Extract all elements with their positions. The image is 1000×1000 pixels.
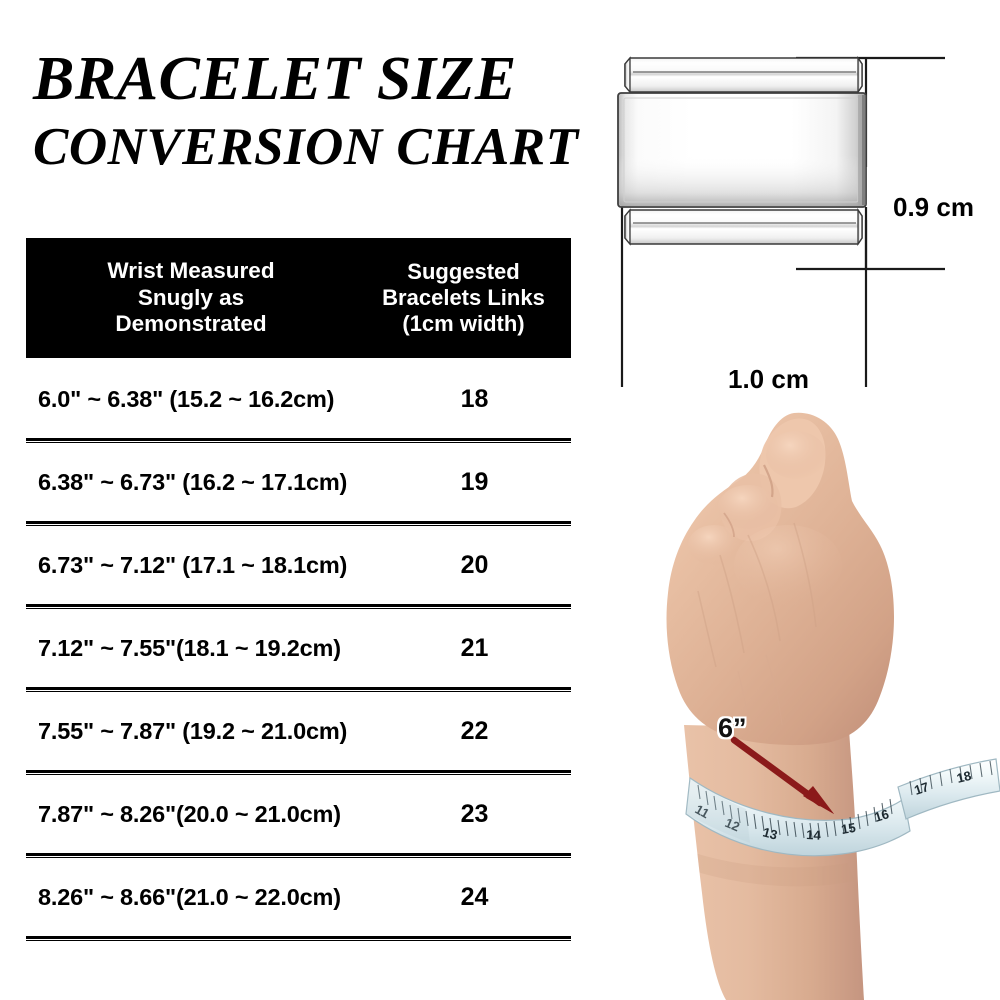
tape-number: 15 <box>840 820 857 837</box>
wrist-measurement-label: 6” <box>718 713 747 744</box>
cell-link-count: 20 <box>378 551 571 580</box>
row-divider <box>26 936 571 939</box>
title-line-2: CONVERSION CHART <box>33 118 593 176</box>
cell-link-count: 23 <box>378 800 571 829</box>
header-links-line-2: Bracelets Links <box>356 285 571 311</box>
link-bottom-rail <box>625 210 862 244</box>
cell-link-count: 21 <box>378 634 571 663</box>
cell-link-count: 18 <box>378 385 571 414</box>
header-links-line-1: Suggested <box>356 259 571 285</box>
hand-fist-icon: 11 12 13 14 15 16 17 18 <box>598 395 1000 1000</box>
header-links-line-3: (1cm width) <box>356 311 571 337</box>
link-height-label: 0.9 cm <box>893 192 974 223</box>
table-header-wrist: Wrist Measured Snugly as Demonstrated <box>26 258 356 338</box>
title-line-1: BRACELET SIZE <box>33 46 593 112</box>
cell-link-count: 22 <box>378 717 571 746</box>
cell-link-count: 24 <box>378 883 571 912</box>
table-row: 7.55" ~ 7.87" (19.2 ~ 21.0cm) 22 <box>26 690 571 773</box>
bracelet-link-figure: 0.9 cm 1.0 cm <box>600 42 1000 392</box>
link-width-label: 1.0 cm <box>728 364 809 395</box>
cell-wrist-range: 6.0" ~ 6.38" (15.2 ~ 16.2cm) <box>26 386 378 413</box>
cell-link-count: 19 <box>378 468 571 497</box>
cell-wrist-range: 6.73" ~ 7.12" (17.1 ~ 18.1cm) <box>26 552 378 579</box>
table-row: 7.12" ~ 7.55"(18.1 ~ 19.2cm) 21 <box>26 607 571 690</box>
link-face <box>618 93 866 207</box>
cell-wrist-range: 8.26" ~ 8.66"(21.0 ~ 22.0cm) <box>26 884 378 911</box>
header-wrist-line-3: Demonstrated <box>26 311 356 338</box>
table-header-row: Wrist Measured Snugly as Demonstrated Su… <box>26 238 571 358</box>
table-row: 6.73" ~ 7.12" (17.1 ~ 18.1cm) 20 <box>26 524 571 607</box>
link-top-rail <box>625 58 862 92</box>
cell-wrist-range: 7.87" ~ 8.26"(20.0 ~ 21.0cm) <box>26 801 378 828</box>
header-wrist-line-1: Wrist Measured <box>26 258 356 285</box>
tape-number: 14 <box>806 827 822 843</box>
table-row: 8.26" ~ 8.66"(21.0 ~ 22.0cm) 24 <box>26 856 571 939</box>
cell-wrist-range: 6.38" ~ 6.73" (16.2 ~ 17.1cm) <box>26 469 378 496</box>
cell-wrist-range: 7.12" ~ 7.55"(18.1 ~ 19.2cm) <box>26 635 378 662</box>
conversion-table: Wrist Measured Snugly as Demonstrated Su… <box>26 238 571 939</box>
table-row: 7.87" ~ 8.26"(20.0 ~ 21.0cm) 23 <box>26 773 571 856</box>
cell-wrist-range: 7.55" ~ 7.87" (19.2 ~ 21.0cm) <box>26 718 378 745</box>
header-wrist-line-2: Snugly as <box>26 285 356 312</box>
wrist-measurement-figure: 11 12 13 14 15 16 17 18 <box>598 395 1000 1000</box>
table-row: 6.38" ~ 6.73" (16.2 ~ 17.1cm) 19 <box>26 441 571 524</box>
table-row: 6.0" ~ 6.38" (15.2 ~ 16.2cm) 18 <box>26 358 571 441</box>
size-chart-page: BRACELET SIZE CONVERSION CHART Wrist Mea… <box>0 0 1000 1000</box>
page-title: BRACELET SIZE CONVERSION CHART <box>33 46 593 176</box>
table-header-links: Suggested Bracelets Links (1cm width) <box>356 259 571 337</box>
